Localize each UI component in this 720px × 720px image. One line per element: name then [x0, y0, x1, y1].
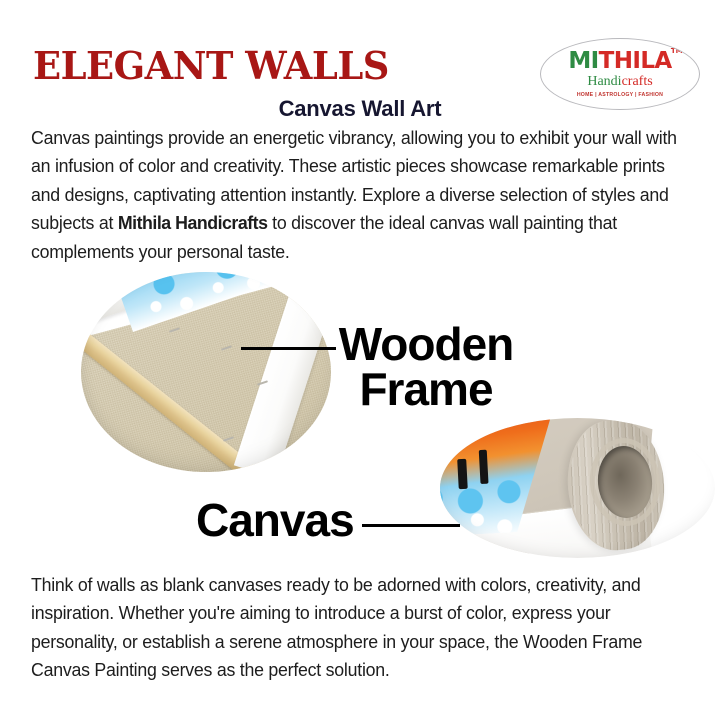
- brand-mention: Mithila Handicrafts: [118, 212, 268, 233]
- intro-paragraph: Canvas paintings provide an energetic vi…: [31, 124, 687, 266]
- brand-logo-subname: Handicrafts: [587, 74, 652, 89]
- page-title: ELEGANT WALLS: [33, 47, 389, 85]
- callout-wooden-frame: Wooden Frame: [330, 322, 522, 411]
- brand-logo-name-part1: MI: [568, 48, 598, 74]
- leader-line-wooden-frame: [241, 347, 336, 350]
- leader-line-canvas: [362, 524, 460, 527]
- infographic-page: ELEGANT WALLS MITHILATM Handicrafts HOME…: [0, 0, 720, 720]
- trademark-icon: TM: [671, 48, 683, 55]
- closing-paragraph: Think of walls as blank canvases ready t…: [31, 571, 687, 685]
- framed-canvas-photo: [81, 272, 331, 472]
- callout-canvas: Canvas: [196, 498, 354, 543]
- brand-logo-name-part3: HILA: [614, 48, 672, 74]
- callout-wooden-frame-line1: Wooden: [330, 322, 522, 367]
- brand-logo-subname-part1: Handi: [587, 74, 621, 89]
- page-subtitle: Canvas Wall Art: [0, 96, 720, 122]
- rolled-canvas-photo: [440, 418, 715, 558]
- brand-logo-name-part2: T: [599, 48, 614, 74]
- callout-wooden-frame-line2: Frame: [330, 367, 522, 412]
- brand-logo-subname-part2: crafts: [622, 74, 653, 89]
- brand-logo-name: MITHILATM: [568, 50, 671, 73]
